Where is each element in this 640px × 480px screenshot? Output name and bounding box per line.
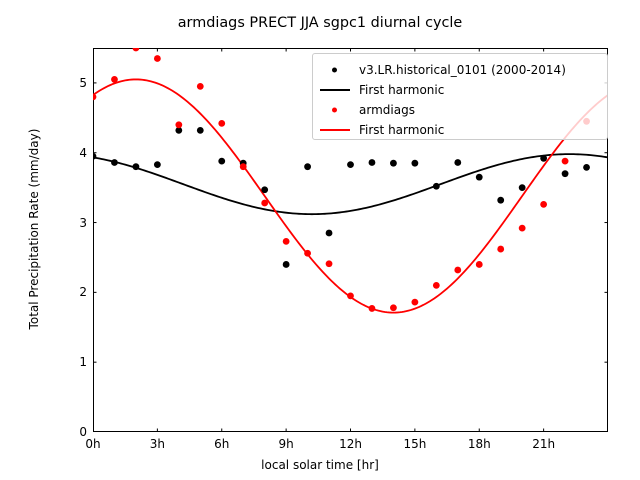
data-point: [390, 160, 397, 167]
legend: v3.LR.historical_0101 (2000-2014)First h…: [312, 53, 608, 140]
legend-dot-marker-icon: [332, 67, 337, 72]
data-point: [218, 158, 225, 165]
data-point: [411, 299, 418, 306]
data-point: [433, 183, 440, 190]
data-point: [304, 250, 311, 257]
legend-symbol: [313, 99, 359, 120]
y-tick-label: 5: [73, 76, 87, 90]
data-point: [304, 163, 311, 170]
legend-item: First harmonic: [313, 119, 607, 140]
x-tick-label: 18h: [468, 437, 491, 451]
data-point: [197, 127, 204, 134]
data-point: [476, 174, 483, 181]
data-point: [326, 260, 333, 267]
data-point: [133, 163, 140, 170]
data-point: [519, 225, 526, 232]
legend-label: v3.LR.historical_0101 (2000-2014): [359, 63, 566, 77]
data-point: [218, 120, 225, 127]
data-point: [562, 158, 569, 165]
x-tick-label: 3h: [150, 437, 165, 451]
data-point: [283, 261, 290, 268]
data-point: [519, 184, 526, 191]
data-point: [390, 304, 397, 311]
legend-line-marker-icon: [320, 129, 350, 131]
data-point: [476, 261, 483, 268]
data-point: [540, 155, 547, 162]
data-point: [540, 201, 547, 208]
data-point: [154, 55, 161, 62]
x-tick-label: 9h: [279, 437, 294, 451]
data-point: [562, 170, 569, 177]
x-tick-label: 0h: [85, 437, 100, 451]
legend-label: First harmonic: [359, 123, 444, 137]
y-tick-label: 3: [73, 216, 87, 230]
data-point: [433, 282, 440, 289]
x-tick-label: 15h: [403, 437, 426, 451]
data-point: [326, 230, 333, 237]
data-point: [111, 159, 118, 166]
legend-item: First harmonic: [313, 79, 607, 100]
x-tick-label: 21h: [532, 437, 555, 451]
data-point: [369, 305, 376, 312]
y-axis-label: Total Precipitation Rate (mm/day): [27, 37, 41, 421]
data-point: [133, 48, 140, 51]
y-tick-label: 0: [73, 425, 87, 439]
data-point: [497, 197, 504, 204]
data-point: [454, 159, 461, 166]
x-tick-label: 12h: [339, 437, 362, 451]
y-tick-label: 1: [73, 355, 87, 369]
chart-figure: armdiags PRECT JJA sgpc1 diurnal cycle 0…: [0, 0, 640, 480]
legend-symbol: [313, 59, 359, 80]
y-tick-label: 2: [73, 285, 87, 299]
legend-dot-marker-icon: [332, 107, 337, 112]
data-point: [583, 164, 590, 171]
data-point: [347, 161, 354, 168]
data-point: [261, 200, 268, 207]
page-title: armdiags PRECT JJA sgpc1 diurnal cycle: [0, 15, 640, 31]
x-axis-label: local solar time [hr]: [0, 458, 640, 472]
data-point: [197, 83, 204, 90]
data-point: [93, 93, 96, 100]
data-point: [240, 163, 247, 170]
data-point: [369, 159, 376, 166]
data-point: [347, 292, 354, 299]
legend-item: v3.LR.historical_0101 (2000-2014): [313, 59, 607, 80]
data-point: [175, 121, 182, 128]
legend-symbol: [313, 119, 359, 140]
legend-item: armdiags: [313, 99, 607, 120]
data-point: [283, 238, 290, 245]
data-point: [154, 161, 161, 168]
legend-label: armdiags: [359, 103, 415, 117]
data-point: [261, 186, 268, 193]
legend-label: First harmonic: [359, 83, 444, 97]
x-tick-label: 6h: [214, 437, 229, 451]
data-point: [111, 76, 118, 83]
data-point: [454, 267, 461, 274]
y-tick-label: 4: [73, 146, 87, 160]
data-point: [497, 246, 504, 253]
legend-symbol: [313, 79, 359, 100]
legend-line-marker-icon: [320, 89, 350, 91]
data-point: [411, 160, 418, 167]
